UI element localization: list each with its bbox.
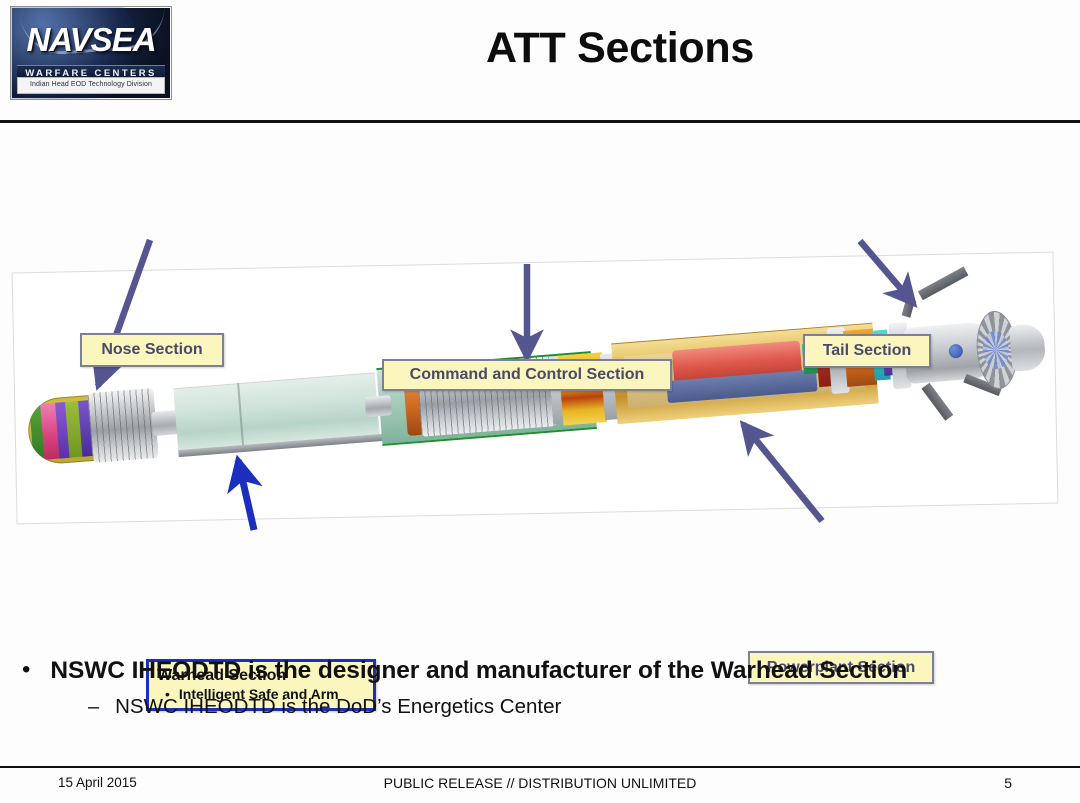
callout-command-control-section[interactable]: Command and Control Section: [382, 359, 672, 391]
bullet-primary: • NSWC IHEODTD is the designer and manuf…: [0, 655, 1080, 686]
footer-page-number: 5: [1004, 775, 1012, 791]
bullet-secondary-text: NSWC IHEODTD is the DoD’s Energetics Cen…: [115, 694, 561, 720]
diagram-stage: Nose Section Command and Control Section…: [0, 128, 1080, 648]
slide: NAVSEA WARFARE CENTERS Indian Head EOD T…: [0, 0, 1080, 803]
logo-subtitle-text: Indian Head EOD Technology Division: [18, 78, 164, 92]
footer-divider: [0, 766, 1080, 768]
logo-subtitle-box: Indian Head EOD Technology Division: [17, 77, 165, 94]
page-title: ATT Sections: [190, 22, 1050, 74]
slide-header: NAVSEA WARFARE CENTERS Indian Head EOD T…: [0, 0, 1080, 118]
slide-footer: 15 April 2015 PUBLIC RELEASE // DISTRIBU…: [0, 772, 1080, 798]
header-divider: [0, 120, 1080, 123]
footer-classification: PUBLIC RELEASE // DISTRIBUTION UNLIMITED: [0, 775, 1080, 791]
bullet-secondary-marker: –: [88, 694, 99, 720]
callout-tail-section[interactable]: Tail Section: [803, 334, 931, 368]
bullet-primary-text: NSWC IHEODTD is the designer and manufac…: [50, 655, 907, 686]
cc-stub: [365, 395, 393, 417]
logo-brand-text: NAVSEA: [11, 23, 171, 56]
callout-nose-label: Nose Section: [101, 341, 202, 359]
callout-nose-section[interactable]: Nose Section: [80, 333, 224, 367]
nose-ribbed-cylinder: [87, 388, 158, 463]
callout-tail-label: Tail Section: [823, 342, 912, 360]
body-bullets: • NSWC IHEODTD is the designer and manuf…: [0, 655, 1080, 720]
bullet-secondary: – NSWC IHEODTD is the DoD’s Energetics C…: [0, 694, 1080, 720]
navsea-logo: NAVSEA WARFARE CENTERS Indian Head EOD T…: [10, 6, 172, 100]
bullet-primary-marker: •: [22, 655, 30, 685]
callout-command-control-label: Command and Control Section: [410, 366, 645, 384]
